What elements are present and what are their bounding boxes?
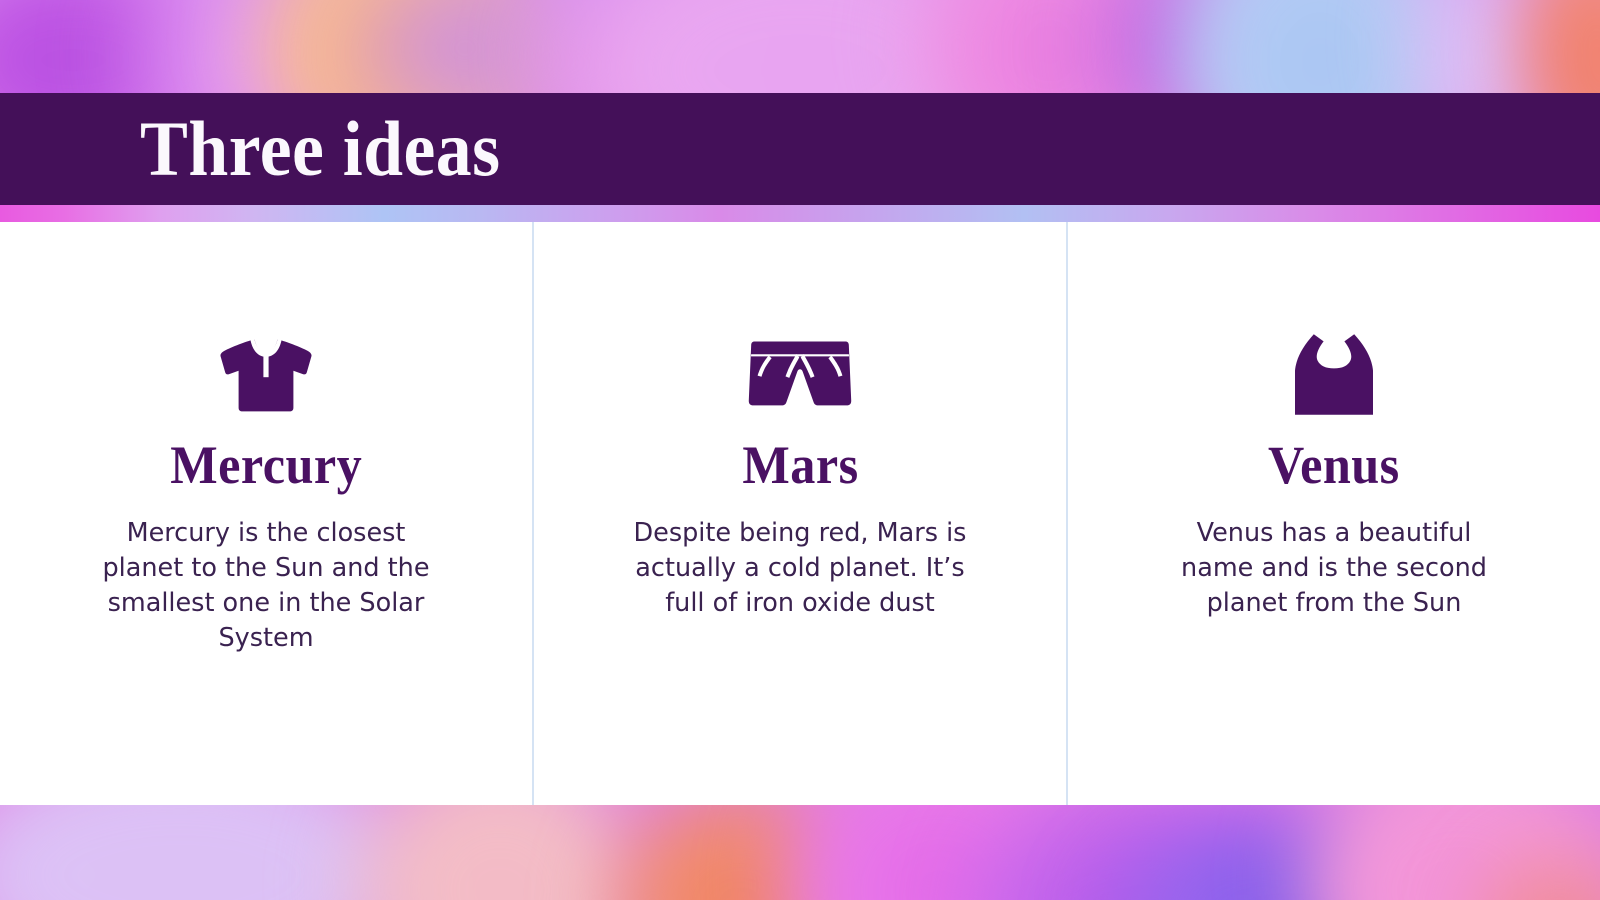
column-mercury: Mercury Mercury is the closest planet to… — [0, 222, 532, 805]
background-bottom-band — [0, 805, 1600, 900]
column-title: Venus — [1268, 437, 1400, 494]
column-body-text: Venus has a beautiful name and is the se… — [1164, 516, 1504, 622]
column-venus: Venus Venus has a beautiful name and is … — [1066, 222, 1600, 805]
column-title: Mercury — [170, 437, 362, 494]
column-body-text: Despite being red, Mars is actually a co… — [630, 516, 970, 622]
background-accent-strip — [0, 205, 1600, 223]
background-top-band — [0, 0, 1600, 95]
page-title: Three ideas — [140, 110, 501, 188]
column-body-text: Mercury is the closest planet to the Sun… — [96, 516, 436, 657]
column-mars: Mars Despite being red, Mars is actually… — [532, 222, 1066, 805]
title-banner: Three ideas — [0, 93, 1600, 205]
tank-top-icon — [1279, 335, 1389, 415]
column-title: Mars — [742, 437, 858, 494]
slide-canvas: Three ideas Mercury Mercury is the close… — [0, 0, 1600, 900]
polo-shirt-icon — [211, 335, 321, 415]
content-card: Mercury Mercury is the closest planet to… — [0, 222, 1600, 805]
shorts-icon — [745, 335, 855, 415]
